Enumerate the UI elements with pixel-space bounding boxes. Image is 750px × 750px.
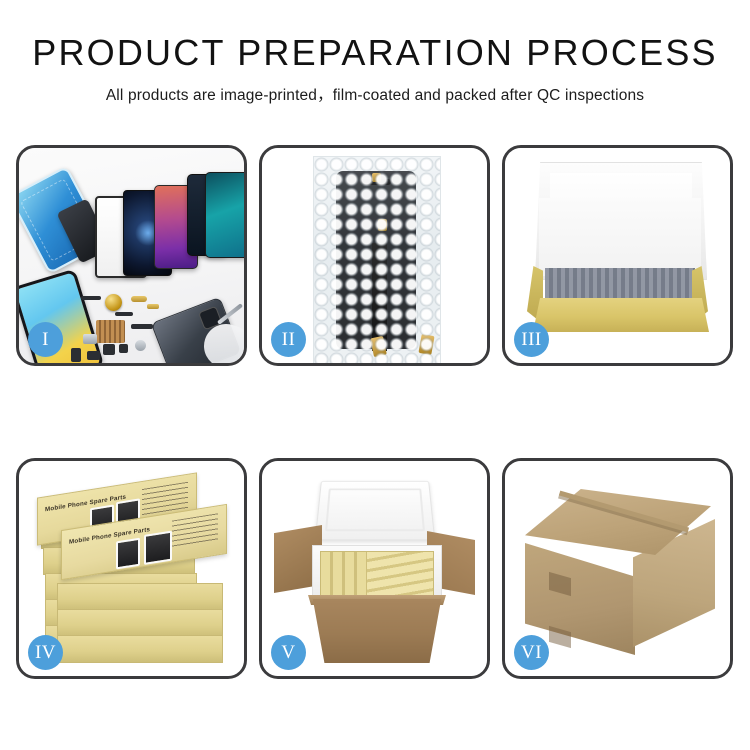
stacked-box-right-3 [57, 583, 223, 611]
box-window-front-2 [144, 531, 172, 565]
gold-connector-4 [372, 173, 381, 182]
part-round-sensor [135, 340, 146, 351]
part-flex-cable [131, 324, 153, 329]
stacked-box-right-2 [57, 609, 223, 637]
step-badge-3: III [514, 322, 549, 357]
bubble-wrap-bag [313, 156, 441, 363]
foam-lid [315, 481, 436, 541]
lcd-screen-assembly [336, 171, 416, 349]
part-gold-bracket [131, 296, 147, 302]
part-silver-shield [83, 334, 97, 344]
carton-front-wall [304, 599, 450, 663]
stacked-box-right-1 [57, 635, 223, 663]
part-connector [87, 351, 100, 360]
process-step-5: V [259, 458, 490, 679]
process-step-4: Mobile Phone Spare Parts Mobile Phone Sp… [16, 458, 247, 679]
part-camera-module [71, 348, 81, 362]
step-badge-5: V [271, 635, 306, 670]
process-step-1: I [16, 145, 247, 366]
packed-boxes-inside [320, 551, 434, 597]
gold-connector-3 [378, 219, 387, 231]
gold-connector-2 [418, 334, 434, 355]
part-strip-1 [81, 296, 101, 300]
speaker-coil-part [105, 294, 122, 311]
lcd-flex-cable [372, 243, 387, 351]
step-badge-6: VI [514, 635, 549, 670]
step-badge-2: II [271, 322, 306, 357]
page-header: PRODUCT PREPARATION PROCESS All products… [0, 0, 750, 105]
step-badge-1: I [28, 322, 63, 357]
kraft-box-front [533, 298, 709, 332]
part-antenna-strip [115, 312, 133, 316]
process-step-2: II [259, 145, 490, 366]
part-ic-chip [103, 344, 115, 355]
part-small-chip [119, 344, 128, 353]
step-badge-4: IV [28, 635, 63, 670]
white-foam-sheet [539, 198, 701, 276]
gold-connector-1 [370, 336, 387, 357]
teal-gradient-phone [205, 172, 244, 258]
page-subtitle: All products are image-printed，film-coat… [0, 83, 750, 105]
box-stack: Mobile Phone Spare Parts Mobile Phone Sp… [31, 475, 235, 667]
page-title: PRODUCT PREPARATION PROCESS [0, 34, 750, 72]
process-step-3: III [502, 145, 733, 366]
box-spec-lines-front [172, 513, 218, 548]
box-window-front-1 [116, 538, 140, 570]
part-gold-clip [147, 304, 159, 309]
chip-array-part [96, 320, 125, 343]
bubble-wrapped-contents [545, 268, 695, 302]
process-step-grid: I II [16, 145, 734, 679]
product-preparation-process-page: PRODUCT PREPARATION PROCESS All products… [0, 0, 750, 750]
process-step-6: VI [502, 458, 733, 679]
